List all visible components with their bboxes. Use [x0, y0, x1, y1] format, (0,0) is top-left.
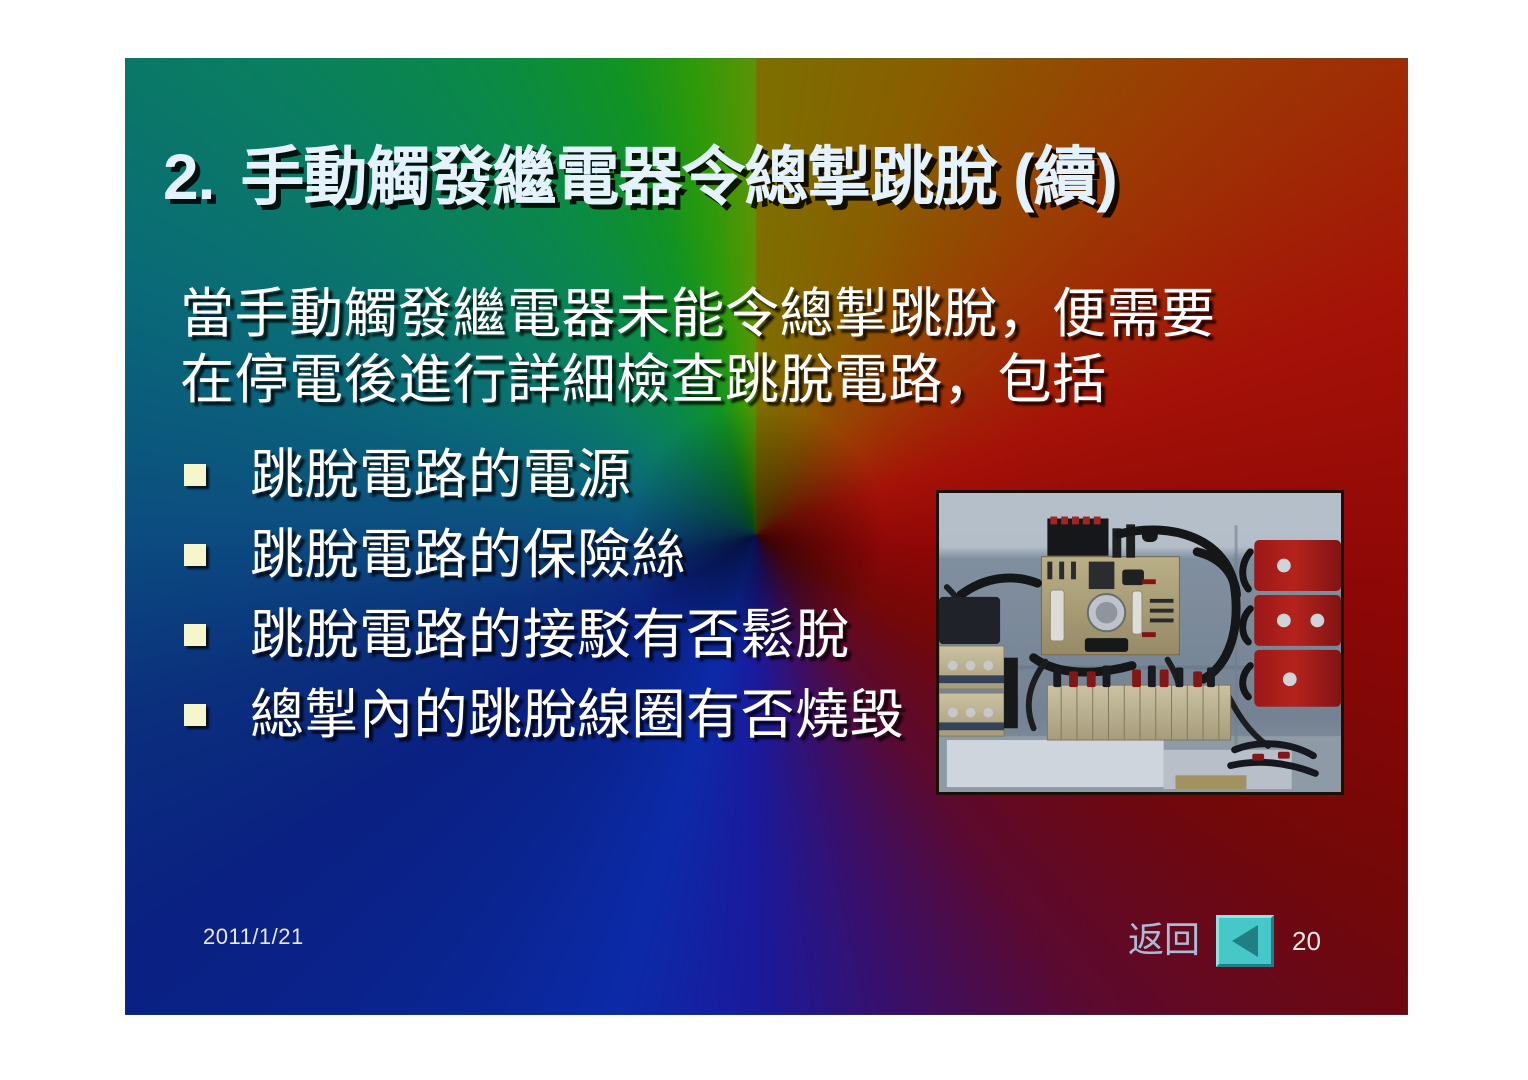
slide-date: 2011/1/21 — [203, 924, 304, 950]
square-bullet-icon — [184, 704, 206, 726]
intro-line-2: 在停電後進行詳細檢查跳脫電路，包括 — [180, 347, 1370, 413]
slide-navigation: 返回 20 — [1128, 911, 1321, 971]
triangle-left-icon — [1232, 925, 1258, 957]
bullet-label: 跳脫電路的電源 — [250, 448, 632, 502]
presentation-slide: 2.手動觸發繼電器令總掣跳脫 (續) 當手動觸發繼電器未能令總掣跳脫，便需要 在… — [125, 58, 1408, 1015]
bullet-label: 跳脫電路的接駁有否鬆脫 — [250, 608, 850, 662]
bullet-label: 總掣內的跳脫線圈有否燒毀 — [250, 688, 904, 742]
square-bullet-icon — [184, 464, 206, 486]
slide-page: 2.手動觸發繼電器令總掣跳脫 (續) 當手動觸發繼電器未能令總掣跳脫，便需要 在… — [0, 0, 1528, 1080]
square-bullet-icon — [184, 624, 206, 646]
intro-line-1: 當手動觸發繼電器未能令總掣跳脫，便需要 — [180, 281, 1370, 347]
title-number: 2. — [163, 141, 214, 213]
switchgear-photo — [936, 490, 1344, 795]
square-bullet-icon — [184, 544, 206, 566]
page-number: 20 — [1292, 928, 1321, 954]
back-label: 返回 — [1128, 923, 1200, 959]
bullet-label: 跳脫電路的保險絲 — [250, 528, 686, 582]
switchgear-photo-graphic — [939, 493, 1341, 792]
back-button[interactable] — [1216, 915, 1274, 967]
page-title: 2.手動觸發繼電器令總掣跳脫 (續) — [163, 144, 1378, 211]
title-text: 手動觸發繼電器令總掣跳脫 (續) — [240, 141, 1116, 213]
